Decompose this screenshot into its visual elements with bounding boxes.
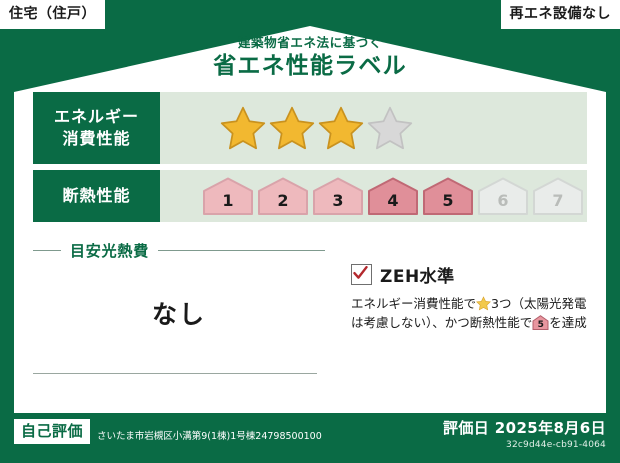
zeh-heading: ZEH水準 xyxy=(351,262,587,287)
star-empty-icon xyxy=(367,105,413,151)
energy-performance-row: エネルギー 消費性能 xyxy=(33,92,587,164)
insulation-level-4: 4 xyxy=(367,177,419,215)
inline-house-level: 5 xyxy=(532,321,549,330)
insulation-level-number: 5 xyxy=(442,191,453,215)
utility-cost-heading: 目安光熱費 xyxy=(33,240,325,261)
self-evaluation-badge: 自己評価 xyxy=(14,419,90,444)
zeh-block: ZEH水準 エネルギー消費性能で3つ（太陽光発電 は考慮しない）、かつ断熱性能で… xyxy=(325,234,587,384)
insulation-level-number: 2 xyxy=(277,191,288,215)
energy-performance-value xyxy=(160,92,587,164)
inline-house-icon: 5 xyxy=(532,315,549,330)
zeh-description: エネルギー消費性能で3つ（太陽光発電 は考慮しない）、かつ断熱性能で5を達成 xyxy=(351,294,587,333)
footer-right: 評価日 2025年8月6日 32c9d44e-cb91-4064 xyxy=(443,417,606,450)
zeh-desc-part3: を達成 xyxy=(549,315,587,330)
insulation-performance-row: 断熱性能 1234567 xyxy=(33,170,587,222)
insulation-performance-label: 断熱性能 xyxy=(33,170,160,222)
heading-rule-right xyxy=(158,250,325,251)
insulation-performance-label-text: 断熱性能 xyxy=(62,185,130,207)
star-filled-icon xyxy=(220,105,266,151)
star-rating xyxy=(220,105,413,151)
utility-cost-divider xyxy=(33,373,317,374)
header-block: 建築物省エネ法に基づく 省エネ性能ラベル xyxy=(0,36,620,79)
zeh-desc-part2: は考慮しない）、かつ断熱性能で xyxy=(351,315,532,330)
insulation-level-2: 2 xyxy=(257,177,309,215)
heading-rule-left xyxy=(33,250,61,251)
insulation-level-number: 1 xyxy=(222,191,233,215)
utility-cost-block: 目安光熱費 なし xyxy=(33,234,325,384)
page-title: 省エネ性能ラベル xyxy=(0,53,620,79)
insulation-level-5: 5 xyxy=(422,177,474,215)
inline-star-icon xyxy=(476,296,491,311)
insulation-level-6: 6 xyxy=(477,177,529,215)
insulation-level-number: 6 xyxy=(497,191,508,215)
utility-cost-value: なし xyxy=(33,295,325,331)
star-filled-icon xyxy=(269,105,315,151)
property-address: さいたま市岩槻区小溝第9(1棟)1号棟24798500100 xyxy=(97,428,322,444)
insulation-level-1: 1 xyxy=(202,177,254,215)
insulation-level-number: 4 xyxy=(387,191,398,215)
energy-performance-label-line1: エネルギー xyxy=(54,106,139,128)
header-subtitle: 建築物省エネ法に基づく xyxy=(0,36,620,50)
label-uuid: 32c9d44e-cb91-4064 xyxy=(443,440,606,450)
label-card: エネルギー 消費性能 断熱性能 1234567 目安光熱費 xyxy=(14,92,606,413)
zeh-desc-part1: エネルギー消費性能で xyxy=(351,296,476,311)
zeh-checkbox[interactable] xyxy=(351,264,372,285)
utility-cost-heading-text: 目安光熱費 xyxy=(70,240,149,261)
footer: 自己評価 さいたま市岩槻区小溝第9(1棟)1号棟24798500100 評価日 … xyxy=(0,413,620,463)
insulation-level-number: 7 xyxy=(552,191,563,215)
insulation-level-number: 3 xyxy=(332,191,343,215)
zeh-title: ZEH水準 xyxy=(380,262,455,287)
badge-renewable-equipment: 再エネ設備なし xyxy=(501,0,620,29)
star-filled-icon xyxy=(318,105,364,151)
energy-performance-label: 住宅（住戸） 再エネ設備なし 建築物省エネ法に基づく 省エネ性能ラベル エネルギ… xyxy=(0,0,620,463)
insulation-scale: 1234567 xyxy=(202,177,584,215)
lower-section: 目安光熱費 なし ZEH水準 エネルギー消費性能で3つ（太陽光発電 xyxy=(33,234,587,384)
insulation-level-3: 3 xyxy=(312,177,364,215)
evaluation-date: 評価日 2025年8月6日 xyxy=(443,417,606,438)
insulation-level-7: 7 xyxy=(532,177,584,215)
energy-performance-label-line2: 消費性能 xyxy=(62,128,130,150)
badge-building-type: 住宅（住戸） xyxy=(0,0,105,29)
insulation-performance-value: 1234567 xyxy=(160,170,587,222)
zeh-desc-star-count: 3つ（太陽光発電 xyxy=(491,296,586,311)
energy-performance-label: エネルギー 消費性能 xyxy=(33,92,160,164)
